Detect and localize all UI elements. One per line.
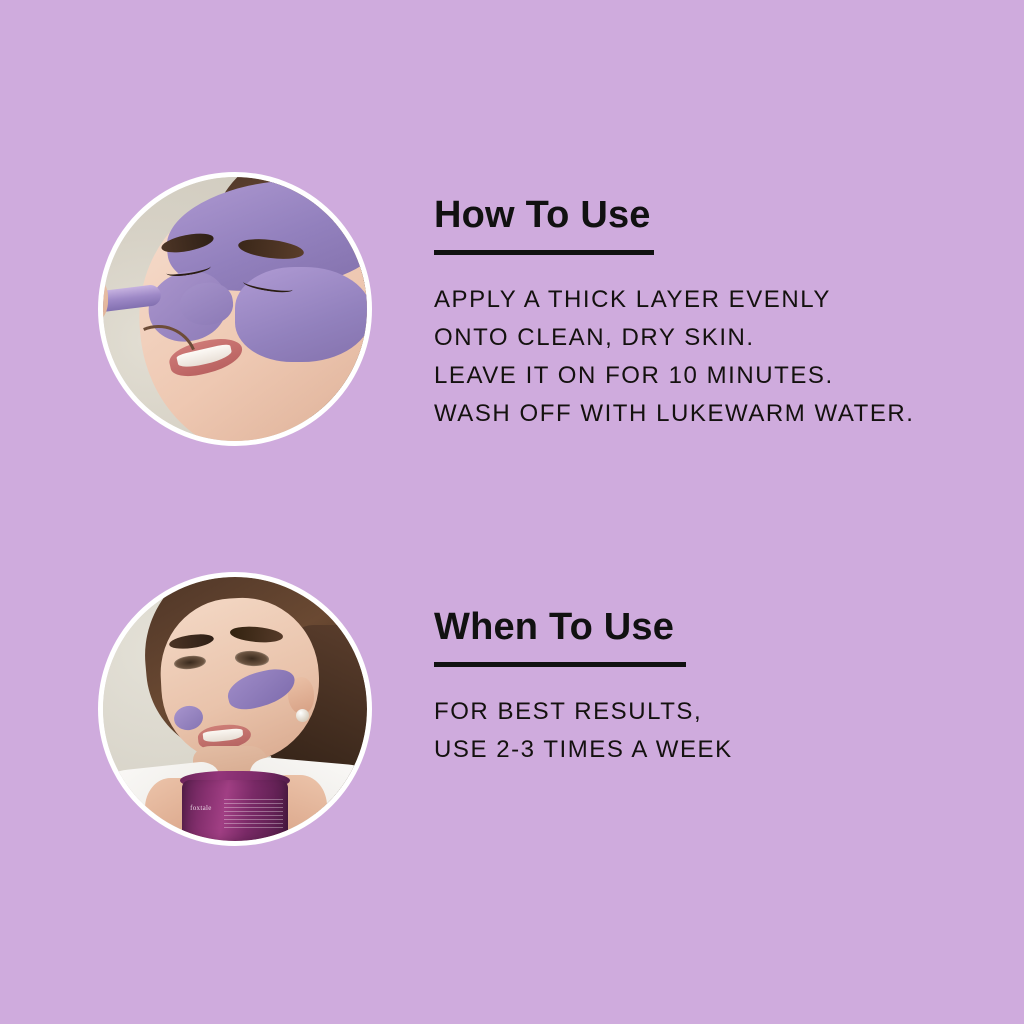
instructions-how: APPLY A THICK LAYER EVENLY ONTO CLEAN, D… [434,281,914,433]
product-jar-brand-name: foxtale [190,804,212,812]
section-how-to-use: How To Use APPLY A THICK LAYER EVENLY ON… [0,172,914,446]
text-column-when: When To Use FOR BEST RESULTS, USE 2-3 TI… [434,572,733,769]
photo-woman-holding-jar: foxtale [98,572,372,846]
instruction-line: ONTO CLEAN, DRY SKIN. [434,319,914,357]
section-when-to-use: foxtale When To Use FOR BEST RESULTS, US… [0,572,733,846]
instruction-line: USE 2-3 TIMES A WEEK [434,731,733,769]
heading-how-to-use: How To Use [434,196,914,236]
product-usage-infographic: How To Use APPLY A THICK LAYER EVENLY ON… [0,0,1024,1024]
heading-underline-when [434,662,686,667]
earring [296,709,309,722]
product-jar-label-text [224,799,282,828]
instruction-line: FOR BEST RESULTS, [434,693,733,731]
heading-when-to-use: When To Use [434,608,733,648]
heading-underline-how [434,250,654,255]
photo-woman-applying-mask [98,172,372,446]
instruction-line: APPLY A THICK LAYER EVENLY [434,281,914,319]
photo-inner-when: foxtale [103,577,367,841]
instruction-line: LEAVE IT ON FOR 10 MINUTES. [434,357,914,395]
photo-inner-how [103,177,367,441]
text-column-how: How To Use APPLY A THICK LAYER EVENLY ON… [434,172,914,433]
instructions-when: FOR BEST RESULTS, USE 2-3 TIMES A WEEK [434,693,733,769]
instruction-line: WASH OFF WITH LUKEWARM WATER. [434,395,914,433]
